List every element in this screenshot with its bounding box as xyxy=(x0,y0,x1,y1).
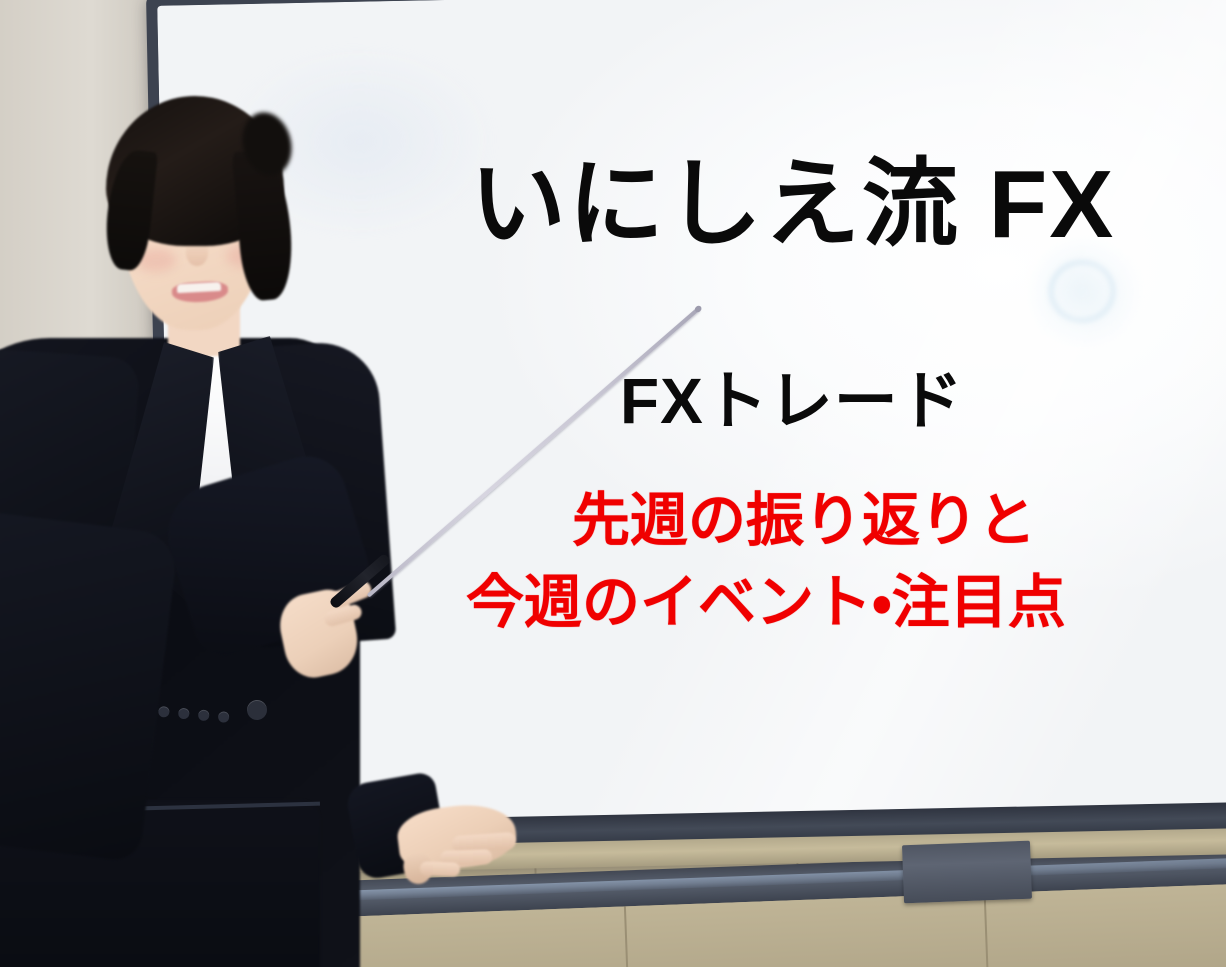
red-line-this-week-events: 今週のイベント・注目点 xyxy=(466,572,1226,635)
presenter-figure xyxy=(0,0,470,967)
subtitle-fx-trade: FXトレード xyxy=(620,368,1180,435)
banner-stage: いにしえ流 FX FXトレード 先週の振り返りと 今週のイベント・注目点 xyxy=(0,0,1226,967)
red-line-last-week-review: 先週の振り返りと xyxy=(572,490,1132,553)
whiteboard-eraser xyxy=(902,841,1032,904)
headline-title: いにしえ流 FX xyxy=(470,156,1210,254)
finger xyxy=(420,861,460,876)
